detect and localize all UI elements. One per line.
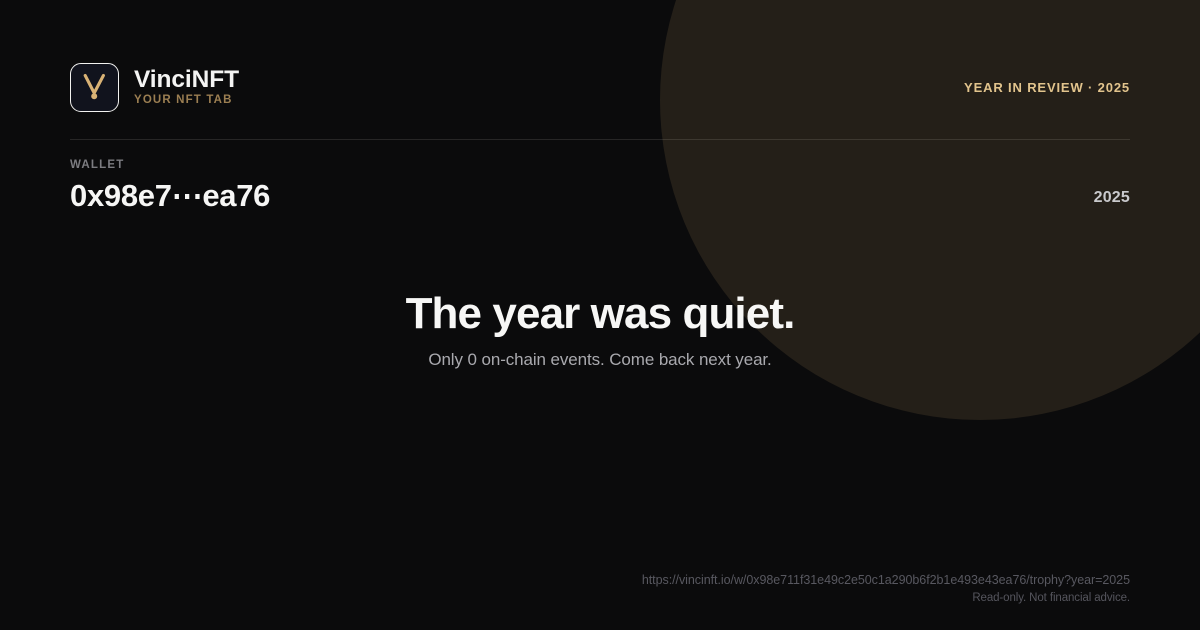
brand-title: VinciNFT: [134, 67, 239, 93]
wallet-row: WALLET 0x98e7⋯ea76 2025: [70, 160, 1130, 212]
footer-disclaimer: Read-only. Not financial advice.: [642, 590, 1130, 608]
empty-state-title: The year was quiet.: [0, 288, 1200, 340]
footer-permalink[interactable]: https://vincinft.io/w/0x98e711f31e49c2e5…: [642, 571, 1130, 590]
brand-tagline: YOUR NFT TAB: [134, 94, 239, 107]
year-in-review-badge: YEAR IN REVIEW · 2025: [964, 80, 1130, 95]
header-divider: [70, 139, 1130, 140]
empty-state: The year was quiet. Only 0 on-chain even…: [0, 288, 1200, 371]
card-header: VinciNFT YOUR NFT TAB YEAR IN REVIEW · 2…: [70, 58, 1130, 116]
wallet-label: WALLET: [70, 160, 270, 172]
vincinft-logo: [70, 63, 119, 112]
wallet-block: WALLET 0x98e7⋯ea76: [70, 160, 270, 212]
year-in-review-card: VinciNFT YOUR NFT TAB YEAR IN REVIEW · 2…: [0, 0, 1200, 630]
wallet-year: 2025: [1094, 189, 1130, 212]
empty-state-subtitle: Only 0 on-chain events. Come back next y…: [0, 349, 1200, 371]
v-pendant-medal-icon: [82, 71, 108, 103]
wallet-address: 0x98e7⋯ea76: [70, 180, 270, 213]
brand-lockup: VinciNFT YOUR NFT TAB: [70, 63, 239, 112]
card-footer: https://vincinft.io/w/0x98e711f31e49c2e5…: [642, 571, 1130, 608]
brand-text: VinciNFT YOUR NFT TAB: [134, 67, 239, 107]
